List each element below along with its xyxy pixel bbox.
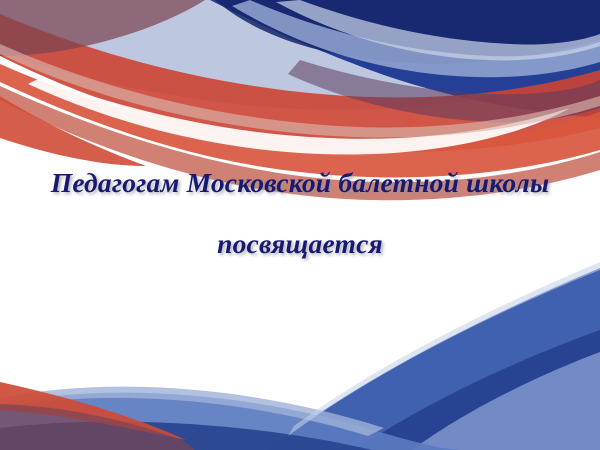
dedication-title-line-1: Педагогам Московской балетной школы	[0, 167, 600, 199]
dedication-title-line-2: посвящается	[0, 228, 600, 260]
presentation-slide: Педагогам Московской балетной школы посв…	[0, 0, 600, 450]
slide-content: Педагогам Московской балетной школы посв…	[0, 0, 600, 450]
